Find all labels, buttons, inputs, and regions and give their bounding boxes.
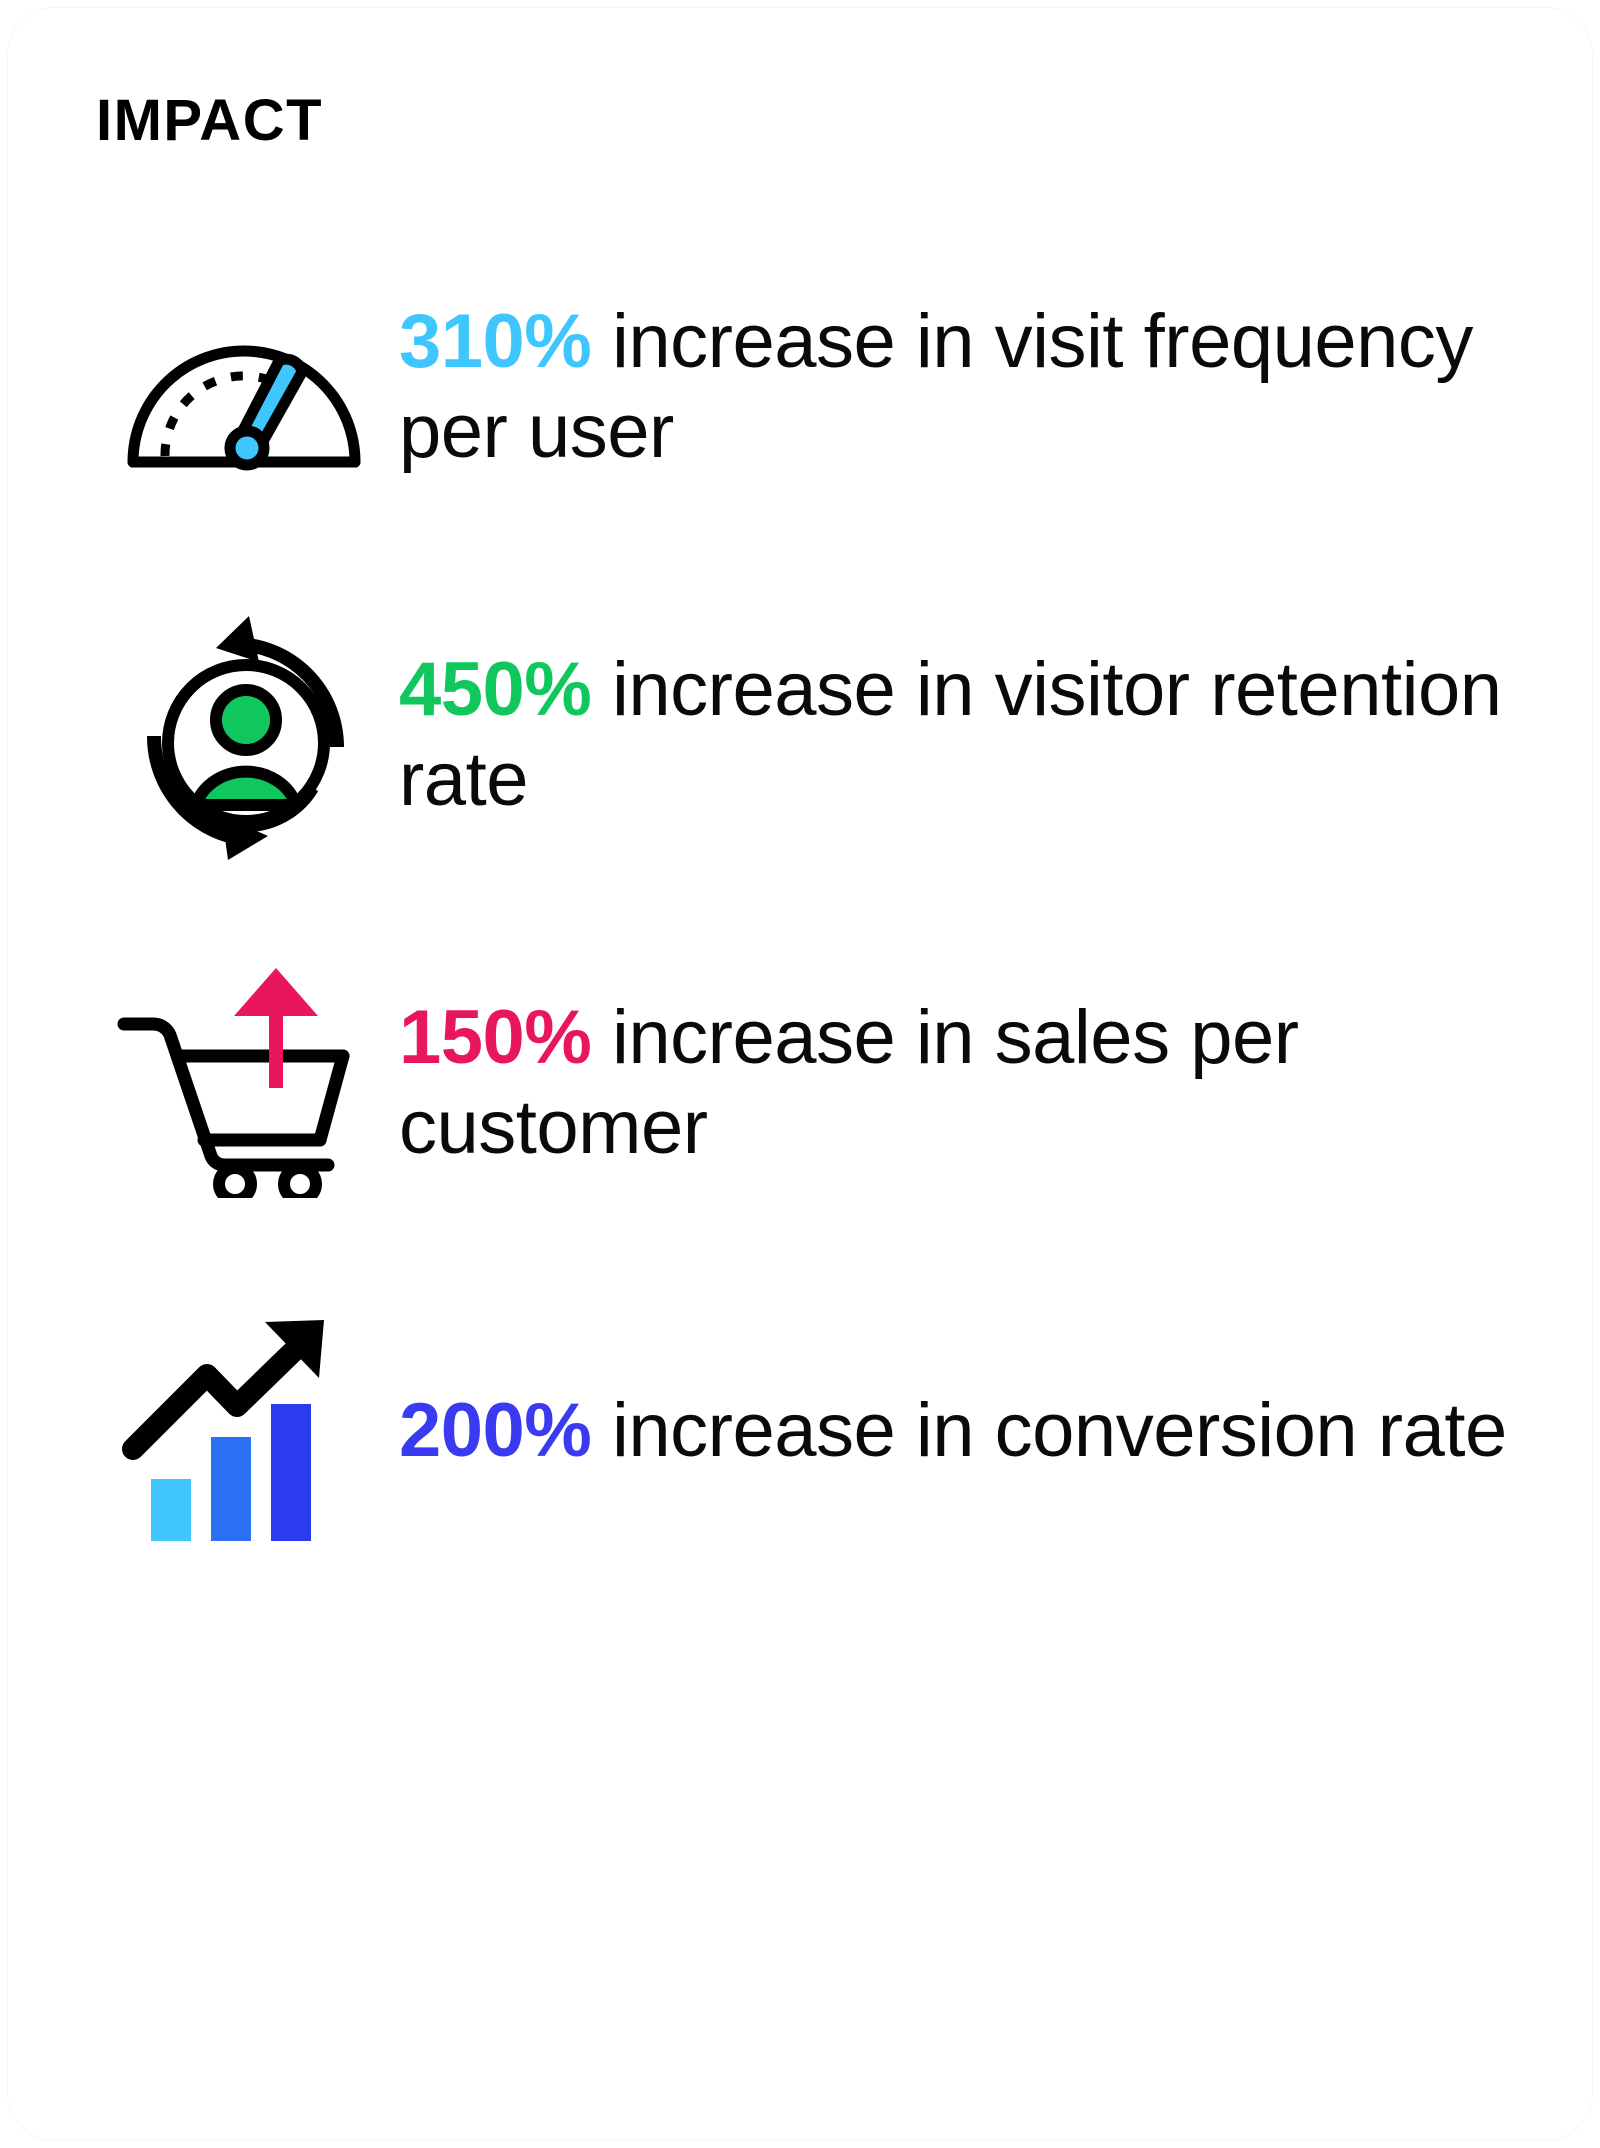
list-item: 310% increase in visit frequency per use… [8, 213, 1592, 561]
impact-card: IMPACT [8, 8, 1592, 2140]
infographic-page: IMPACT [0, 0, 1600, 2148]
stat-value: 310% [399, 299, 591, 384]
growth-bar-chart-icon [96, 1286, 391, 1576]
bar-2 [211, 1437, 251, 1541]
stat-line: 310% increase in visit frequency per use… [399, 297, 1512, 476]
bar-3 [271, 1404, 311, 1541]
shopping-cart-up-arrow-icon [96, 938, 391, 1228]
stats-list: 310% increase in visit frequency per use… [8, 213, 1592, 1605]
stat-value: 150% [399, 995, 591, 1080]
bar-1 [151, 1479, 191, 1541]
stat-text-cell: 150% increase in sales per customer [391, 993, 1592, 1172]
page-title: IMPACT [96, 92, 323, 150]
user-retention-icon [96, 585, 391, 885]
list-item: 450% increase in visitor retention rate [8, 561, 1592, 909]
list-item: 200% increase in conversion rate [8, 1257, 1592, 1605]
stat-description: increase in conversion rate [591, 1388, 1506, 1473]
stat-line: 200% increase in conversion rate [399, 1386, 1512, 1476]
stat-text-cell: 310% increase in visit frequency per use… [391, 297, 1592, 476]
list-item: 150% increase in sales per customer [8, 909, 1592, 1257]
speedometer-icon [96, 237, 391, 537]
stat-value: 450% [399, 647, 591, 732]
stat-value: 200% [399, 1388, 591, 1473]
stat-text-cell: 450% increase in visitor retention rate [391, 645, 1592, 824]
stat-line: 150% increase in sales per customer [399, 993, 1512, 1172]
stat-text-cell: 200% increase in conversion rate [391, 1386, 1592, 1476]
stat-line: 450% increase in visitor retention rate [399, 645, 1512, 824]
